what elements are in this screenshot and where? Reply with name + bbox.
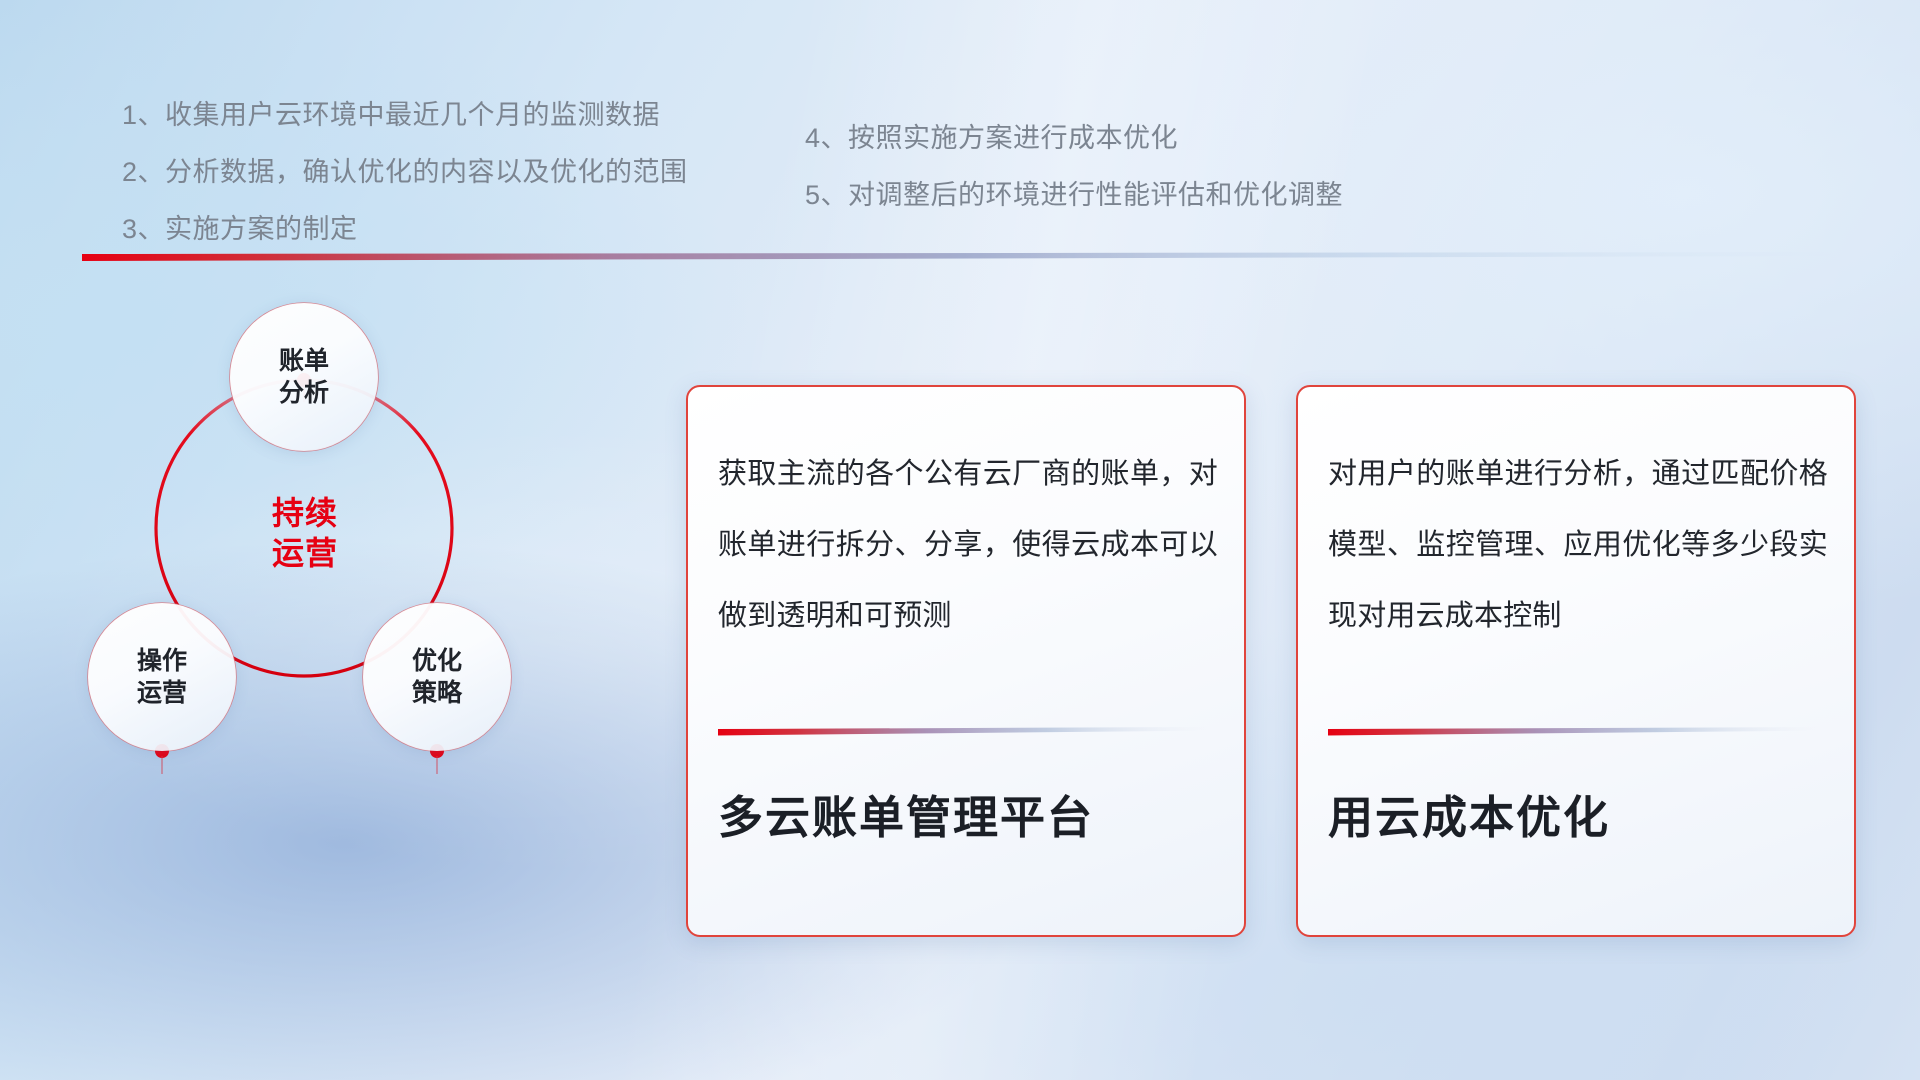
section-divider xyxy=(82,252,1842,262)
card-body-text: 对用户的账单进行分析，通过匹配价格模型、监控管理、应用优化等多少段实现对用云成本… xyxy=(1328,439,1828,652)
card-title: 多云账单管理平台 xyxy=(718,791,1220,845)
venn-center-label-line2: 运营 xyxy=(230,533,380,573)
continuous-operation-diagram: 账单 分析 操作 运营 优化 策略 持续 运营 xyxy=(75,285,595,785)
step-item-3: 3、实施方案的制定 xyxy=(122,216,688,243)
venn-bubble-label-line1: 账单 xyxy=(279,345,329,378)
card-accent-rule xyxy=(718,727,1216,736)
step-item-2: 2、分析数据，确认优化的内容以及优化的范围 xyxy=(122,159,688,186)
step-item-1: 1、收集用户云环境中最近几个月的监测数据 xyxy=(122,102,688,129)
venn-bubble-label-line2: 分析 xyxy=(279,377,329,410)
venn-bubble-label-line1: 操作 xyxy=(137,645,187,678)
venn-bubble-label-line2: 策略 xyxy=(412,677,462,710)
venn-center-label-line1: 持续 xyxy=(230,493,380,533)
steps-list-left: 1、收集用户云环境中最近几个月的监测数据 2、分析数据，确认优化的内容以及优化的… xyxy=(122,102,688,273)
venn-center-label: 持续 运营 xyxy=(230,493,380,573)
step-item-4: 4、按照实施方案进行成本优化 xyxy=(805,125,1343,152)
feature-card-cloud-cost-optimization[interactable]: 对用户的账单进行分析，通过匹配价格模型、监控管理、应用优化等多少段实现对用云成本… xyxy=(1296,385,1856,937)
steps-list-right: 4、按照实施方案进行成本优化 5、对调整后的环境进行性能评估和优化调整 xyxy=(805,125,1343,239)
card-title: 用云成本优化 xyxy=(1328,791,1830,845)
card-accent-rule xyxy=(1328,727,1826,736)
feature-card-multi-cloud-billing-platform[interactable]: 获取主流的各个公有云厂商的账单，对账单进行拆分、分享，使得云成本可以做到透明和可… xyxy=(686,385,1246,937)
venn-bubble-operation-running[interactable]: 操作 运营 xyxy=(88,603,236,751)
card-body-text: 获取主流的各个公有云厂商的账单，对账单进行拆分、分享，使得云成本可以做到透明和可… xyxy=(718,439,1218,652)
venn-bubble-bill-analysis[interactable]: 账单 分析 xyxy=(230,303,378,451)
step-item-5: 5、对调整后的环境进行性能评估和优化调整 xyxy=(805,182,1343,209)
venn-bubble-label-line1: 优化 xyxy=(412,645,462,678)
venn-bubble-optimization-policy[interactable]: 优化 策略 xyxy=(363,603,511,751)
venn-bubble-label-line2: 运营 xyxy=(137,677,187,710)
